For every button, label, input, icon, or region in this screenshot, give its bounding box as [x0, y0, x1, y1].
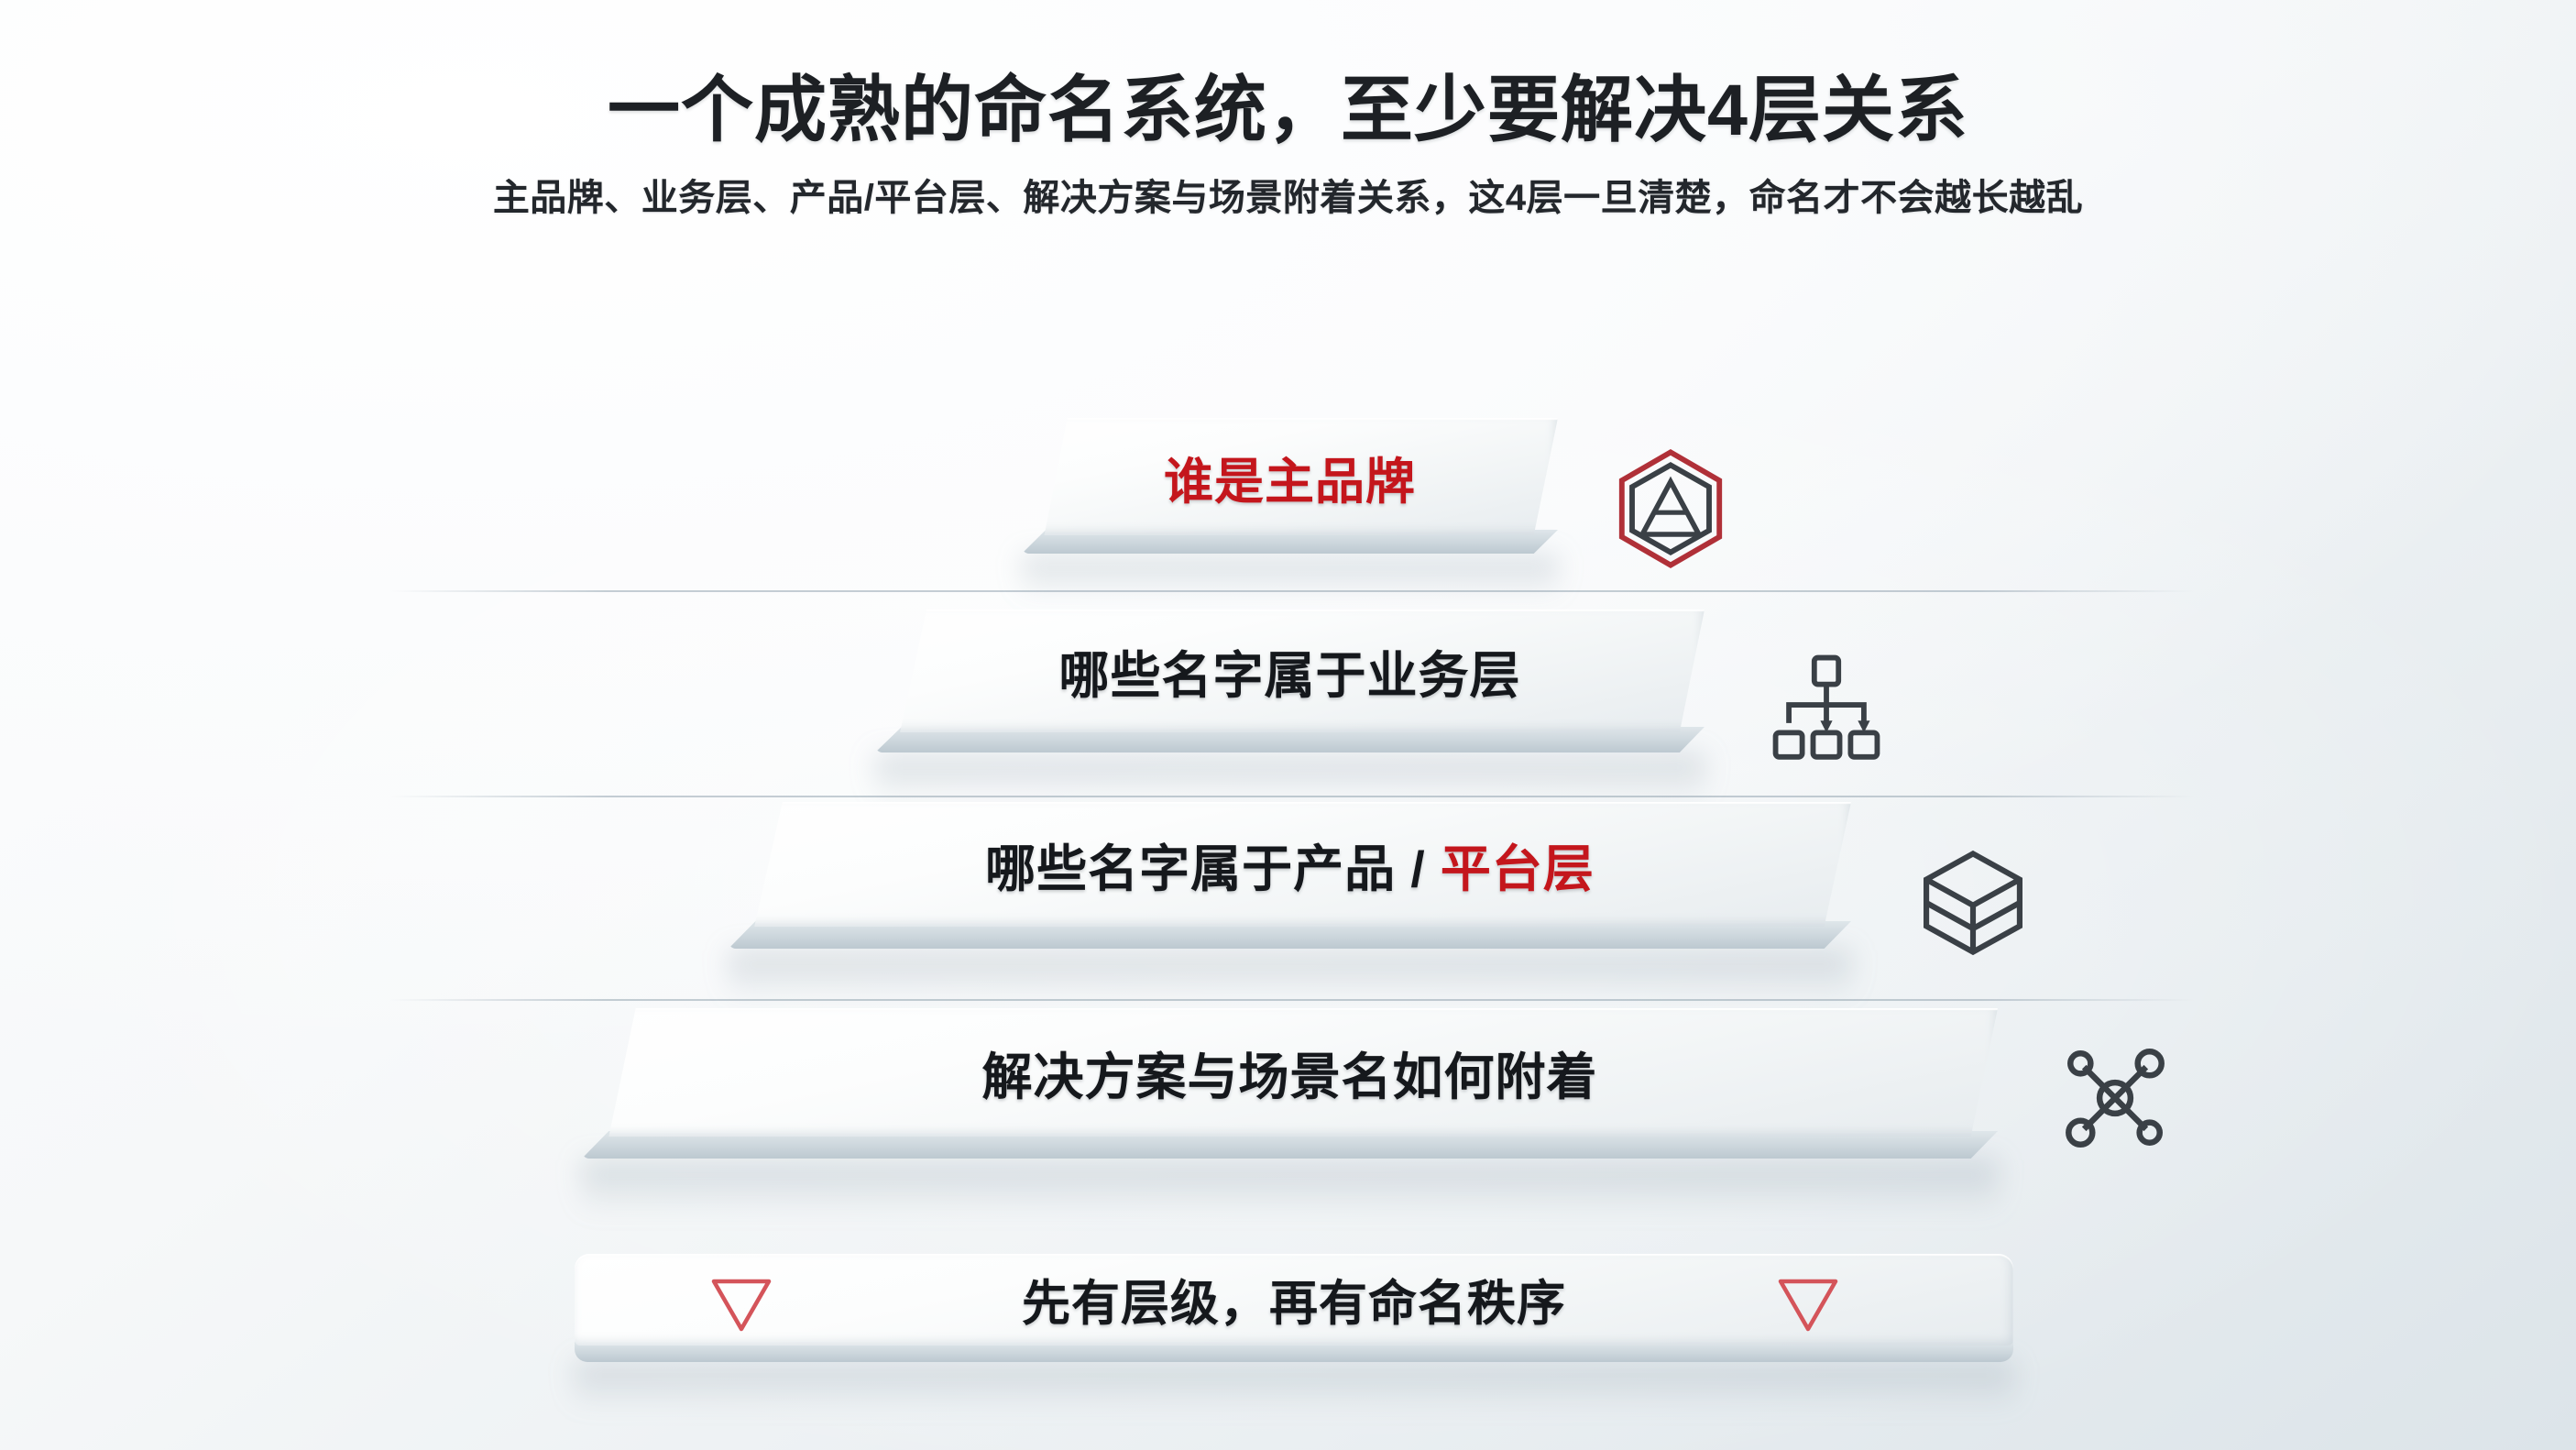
layer-2-face: 哪些名字属于业务层	[875, 610, 1705, 732]
layer-1-label-text: 谁是主品牌	[1164, 455, 1416, 510]
header: 一个成熟的命名系统，至少要解决4层关系 主品牌、业务层、产品/平台层、解决方案与…	[0, 71, 2576, 220]
network-hub-icon	[2048, 1031, 2181, 1164]
layer-2-label-text: 哪些名字属于业务层	[1058, 647, 1520, 704]
pyramid-layer-3[interactable]: 哪些名字属于产品 / 平台层	[729, 802, 1851, 976]
hierarchy-chart-icon	[1759, 642, 1892, 774]
layer-5-label-text: 先有层级，再有命名秩序	[1022, 1277, 1566, 1331]
slide-canvas: 一个成熟的命名系统，至少要解决4层关系 主品牌、业务层、产品/平台层、解决方案与…	[0, 0, 2576, 1450]
layer-4-label-text: 解决方案与场景名如何附着	[981, 1049, 1597, 1105]
page-subtitle: 主品牌、业务层、产品/平台层、解决方案与场景附着关系，这4层一旦清楚，命名才不会…	[0, 176, 2576, 220]
page-title: 一个成熟的命名系统，至少要解决4层关系	[0, 71, 2576, 148]
layer-3-label-text-highlight: 平台层	[1441, 840, 1595, 897]
layer-3-label-text-main: 哪些名字属于产品 /	[985, 840, 1441, 897]
layer-1-shadow	[1022, 555, 1558, 598]
layer-5-shadow	[575, 1362, 2013, 1408]
layer-3-shadow	[729, 950, 1851, 1000]
pyramid-layer-2[interactable]: 哪些名字属于业务层	[875, 610, 1705, 779]
layer-4-shadow	[582, 1160, 1998, 1214]
hexagon-pyramid-icon	[1602, 440, 1739, 577]
layer-3-face: 哪些名字属于产品 / 平台层	[729, 802, 1851, 927]
pyramid-layer-1[interactable]: 谁是主品牌	[1022, 418, 1558, 574]
layer-2-label: 哪些名字属于业务层	[1058, 634, 1520, 708]
layer-4-label: 解决方案与场景名如何附着	[981, 1036, 1597, 1109]
stacked-cube-icon	[1906, 836, 2039, 969]
layer-2-shadow	[875, 754, 1705, 802]
layer-1-label: 谁是主品牌	[1164, 441, 1416, 513]
pyramid-layer-5[interactable]: 先有层级，再有命名秩序	[575, 1254, 2013, 1387]
pyramid-layer-4[interactable]: 解决方案与场景名如何附着	[582, 1008, 1998, 1187]
triangle-down-icon-right	[1775, 1274, 1841, 1339]
layer-3-label: 哪些名字属于产品 / 平台层	[985, 828, 1595, 901]
triangle-down-icon-left	[708, 1274, 774, 1339]
layer-5-label: 先有层级，再有命名秩序	[1022, 1265, 1566, 1335]
layer-4-face: 解决方案与场景名如何附着	[582, 1008, 1998, 1137]
layer-1-face: 谁是主品牌	[1022, 418, 1558, 535]
